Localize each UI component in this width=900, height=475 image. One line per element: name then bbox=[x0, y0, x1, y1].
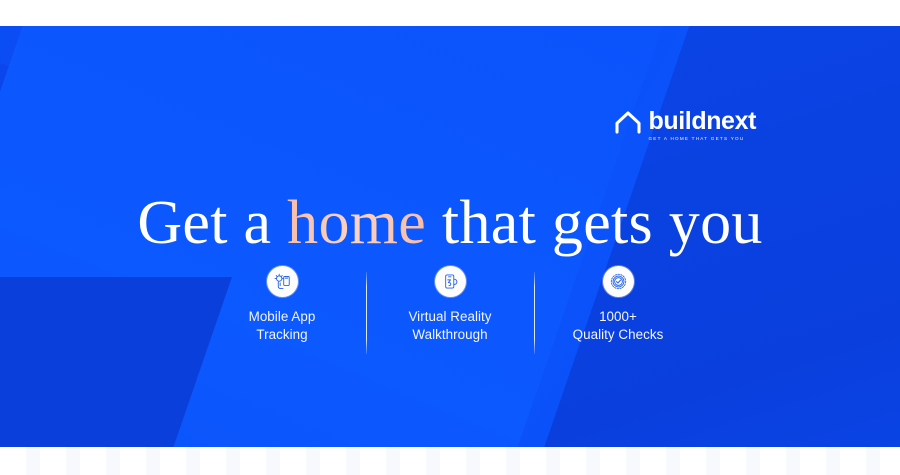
feature-label-line2: Tracking bbox=[256, 327, 307, 342]
house-icon bbox=[615, 110, 641, 134]
feature-label-mobile-app-tracking: Mobile AppTracking bbox=[249, 308, 316, 343]
banner-stage: buildnext GET A HOME THAT GETS YOU Get a… bbox=[0, 26, 900, 447]
feature-list: Mobile AppTracking Virtual RealityWalkth… bbox=[0, 266, 900, 354]
feature-label-virtual-reality-walkthrough: Virtual RealityWalkthrough bbox=[408, 308, 491, 343]
feature-label-line2: Walkthrough bbox=[412, 327, 487, 342]
page-title: Get a home that gets you bbox=[0, 188, 900, 258]
brand-logo[interactable]: buildnext GET A HOME THAT GETS YOU bbox=[615, 108, 756, 143]
brand-wordmark: buildnext bbox=[648, 108, 756, 134]
bottom-band-pattern bbox=[0, 447, 900, 475]
vr-headset-icon bbox=[435, 266, 466, 297]
headline-part-after: that gets you bbox=[426, 189, 763, 257]
feature-item-virtual-reality-walkthrough[interactable]: Virtual RealityWalkthrough bbox=[367, 266, 534, 343]
feature-label-line1: Mobile App bbox=[249, 309, 316, 324]
promotional-banner: buildnext GET A HOME THAT GETS YOU Get a… bbox=[0, 0, 900, 475]
feature-label-line2: Quality Checks bbox=[573, 327, 664, 342]
headline-part-before: Get a bbox=[137, 189, 287, 257]
mobile-app-tracking-icon bbox=[267, 266, 298, 297]
brand-tagline: GET A HOME THAT GETS YOU bbox=[648, 134, 756, 143]
quality-seal-check-icon bbox=[603, 266, 634, 297]
headline-accent-word: home bbox=[287, 189, 426, 257]
feature-label-quality-checks: 1000+Quality Checks bbox=[573, 308, 664, 343]
feature-item-quality-checks[interactable]: 1000+Quality Checks bbox=[535, 266, 702, 343]
feature-label-line1: Virtual Reality bbox=[408, 309, 491, 324]
feature-item-mobile-app-tracking[interactable]: Mobile AppTracking bbox=[199, 266, 366, 343]
top-letterbox-band bbox=[0, 0, 900, 26]
feature-label-line1: 1000+ bbox=[599, 309, 637, 324]
